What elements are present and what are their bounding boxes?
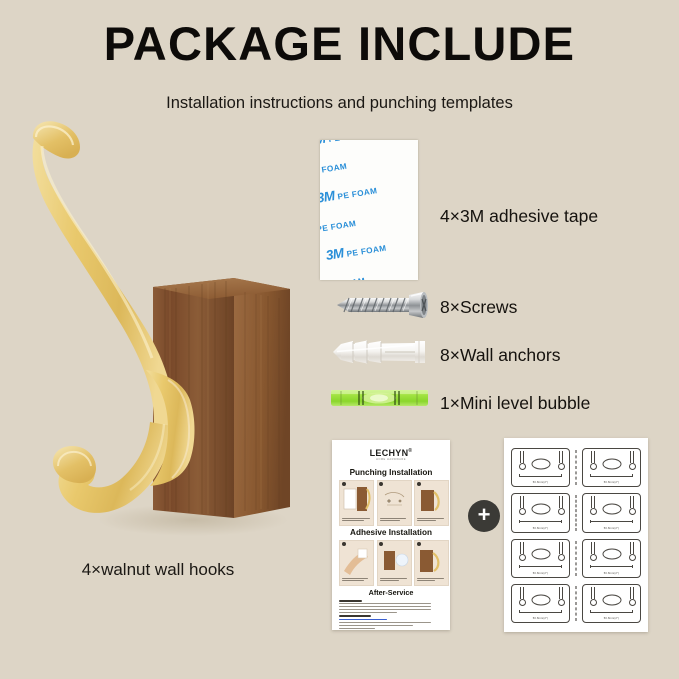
brand-tagline: HOME HARDWARE: [332, 458, 450, 461]
step-caption: [341, 577, 372, 584]
template-card: 50.8mm(2"): [582, 539, 641, 578]
level-bubble-label: 1×Mini level bubble: [440, 393, 590, 414]
wall-hook-photo: [18, 112, 318, 542]
page-title: PACKAGE INCLUDE: [0, 20, 679, 67]
step-caption: [416, 577, 447, 584]
wall-anchor-icon: [327, 337, 432, 372]
hook-caption: 4×walnut wall hooks: [8, 560, 308, 580]
adhesive-steps: [339, 540, 449, 586]
tape-brand: 3M: [320, 140, 326, 148]
step-panel: [339, 540, 374, 586]
step-panel: [414, 480, 449, 526]
cut-line: [572, 493, 580, 532]
cut-line: [572, 539, 580, 578]
hook-outline: [531, 458, 550, 469]
step-panel: [377, 540, 412, 586]
after-service-heading: After-Service: [332, 588, 450, 597]
step-number: [417, 482, 421, 486]
after-service-item-title: [339, 600, 362, 602]
template-card: 50.8mm(2"): [511, 539, 570, 578]
template-card: 50.8mm(2"): [582, 584, 641, 623]
step-number: [342, 542, 346, 546]
template-grid: 50.8mm(2") 50.8mm(2") 50.8mm(2") 50.8mm(…: [511, 448, 641, 623]
plus-icon: +: [468, 500, 500, 532]
wall-anchor-label: 8×Wall anchors: [440, 345, 560, 366]
cut-line: [572, 448, 580, 487]
package-include-graphic: PACKAGE INCLUDE Installation instruction…: [0, 0, 679, 679]
step-number: [417, 542, 421, 546]
step-number: [379, 482, 383, 486]
adhesive-tape-label: 4×3M adhesive tape: [440, 206, 598, 227]
step-caption: [379, 517, 410, 524]
screw-label: 8×Screws: [440, 297, 517, 318]
step-number: [342, 482, 346, 486]
registered-mark: ®: [408, 448, 412, 454]
dimension-label: 50.8mm(2"): [512, 481, 569, 484]
instruction-sheet: LECHYN® HOME HARDWARE Punching Installat…: [332, 440, 450, 630]
step-caption: [379, 577, 410, 584]
template-card: 50.8mm(2"): [511, 493, 570, 532]
step-caption: [341, 517, 372, 524]
screw-icon: [327, 289, 432, 326]
punching-install-heading: Punching Installation: [332, 468, 450, 477]
level-bubble-icon: [327, 385, 432, 416]
step-panel: [377, 480, 412, 526]
punching-steps: [339, 480, 449, 526]
brand-logo: LECHYN®: [332, 448, 450, 458]
tape-material: PE FOAM: [328, 140, 369, 144]
adhesive-tape-icon: 3MPE FOAM 3MPE FOAM 3MPE FOAM 3MPE FOAM …: [320, 140, 418, 280]
after-service-body: [339, 600, 444, 631]
template-card: 50.8mm(2"): [511, 448, 570, 487]
screw-marker: [517, 460, 525, 467]
screw-marker: [556, 460, 564, 467]
adhesive-install-heading: Adhesive Installation: [332, 528, 450, 537]
dimension-line: [519, 474, 562, 477]
punching-template-sheet: 50.8mm(2") 50.8mm(2") 50.8mm(2") 50.8mm(…: [504, 438, 648, 632]
step-panel: [414, 540, 449, 586]
page-subtitle: Installation instructions and punching t…: [0, 94, 679, 113]
step-caption: [416, 517, 447, 524]
step-number: [379, 542, 383, 546]
template-card: 50.8mm(2"): [511, 584, 570, 623]
brand-name: LECHYN: [370, 448, 409, 458]
template-card: 50.8mm(2"): [582, 448, 641, 487]
support-email-link[interactable]: [339, 619, 387, 620]
step-panel: [339, 480, 374, 526]
template-card: 50.8mm(2"): [582, 493, 641, 532]
cut-line: [572, 584, 580, 623]
